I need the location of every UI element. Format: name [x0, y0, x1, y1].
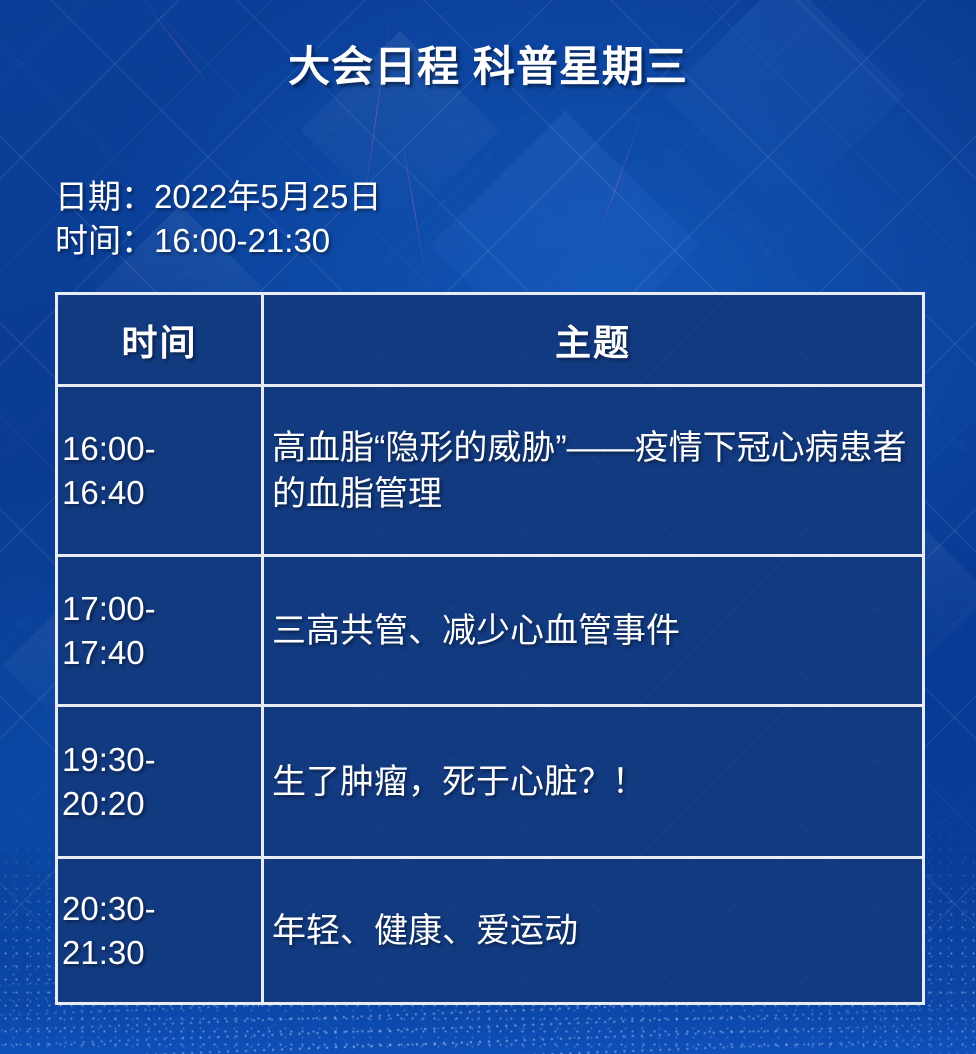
table-body: 16:00- 16:40 高血脂“隐形的威胁”——疫情下冠心病患者的血脂管理 1…: [57, 386, 924, 1004]
schedule-table: 时间 主题 16:00- 16:40 高血脂“隐形的威胁”——疫情下冠心病患者的…: [55, 292, 925, 1005]
event-time: 时间：16:00-21:30: [55, 219, 381, 263]
event-date: 日期：2022年5月25日: [55, 175, 381, 219]
table-head: 时间 主题: [57, 294, 924, 386]
table-header-row: 时间 主题: [57, 294, 924, 386]
cell-topic: 高血脂“隐形的威胁”——疫情下冠心病患者的血脂管理: [263, 386, 924, 556]
table-row: 17:00- 17:40 三高共管、减少心血管事件: [57, 556, 924, 706]
cell-time: 20:30- 21:30: [57, 858, 263, 1004]
cell-topic: 三高共管、减少心血管事件: [263, 556, 924, 706]
page-title: 大会日程 科普星期三: [0, 33, 976, 94]
cell-time: 17:00- 17:40: [57, 556, 263, 706]
event-meta: 日期：2022年5月25日 时间：16:00-21:30: [55, 175, 381, 263]
column-header-time: 时间: [57, 294, 263, 386]
cell-topic: 年轻、健康、爱运动: [263, 858, 924, 1004]
cell-time: 19:30- 20:20: [57, 706, 263, 858]
poster-root: 大会日程 科普星期三 日期：2022年5月25日 时间：16:00-21:30 …: [0, 0, 976, 1054]
table-row: 20:30- 21:30 年轻、健康、爱运动: [57, 858, 924, 1004]
cell-topic: 生了肿瘤，死于心脏？！: [263, 706, 924, 858]
cell-time: 16:00- 16:40: [57, 386, 263, 556]
column-header-topic: 主题: [263, 294, 924, 386]
table-row: 19:30- 20:20 生了肿瘤，死于心脏？！: [57, 706, 924, 858]
table-row: 16:00- 16:40 高血脂“隐形的威胁”——疫情下冠心病患者的血脂管理: [57, 386, 924, 556]
